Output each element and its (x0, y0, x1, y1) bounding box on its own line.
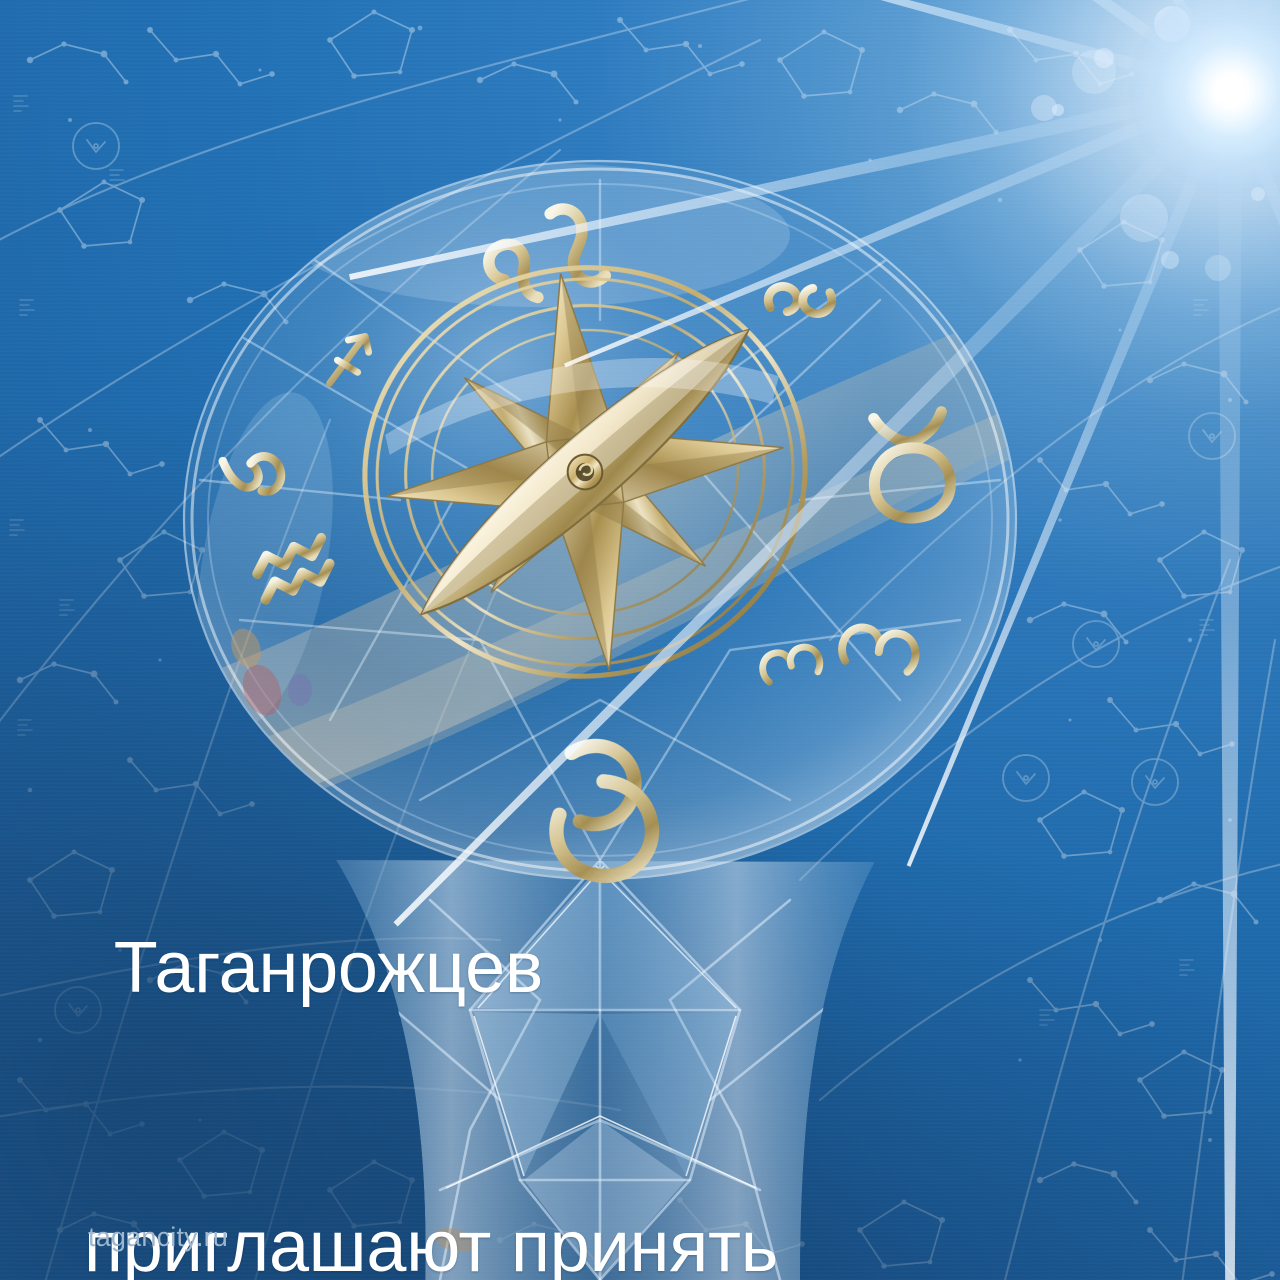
headline-text: Таганрожцев приглашают принять участие в… (84, 736, 1094, 1280)
headline-line-1: Таганрожцев (84, 922, 1094, 1015)
headline-line-2: приглашают принять (84, 1201, 1094, 1280)
announcement-card: Таганрожцев приглашают принять участие в… (0, 0, 1280, 1280)
site-watermark: tagancity.ru (88, 1222, 228, 1252)
